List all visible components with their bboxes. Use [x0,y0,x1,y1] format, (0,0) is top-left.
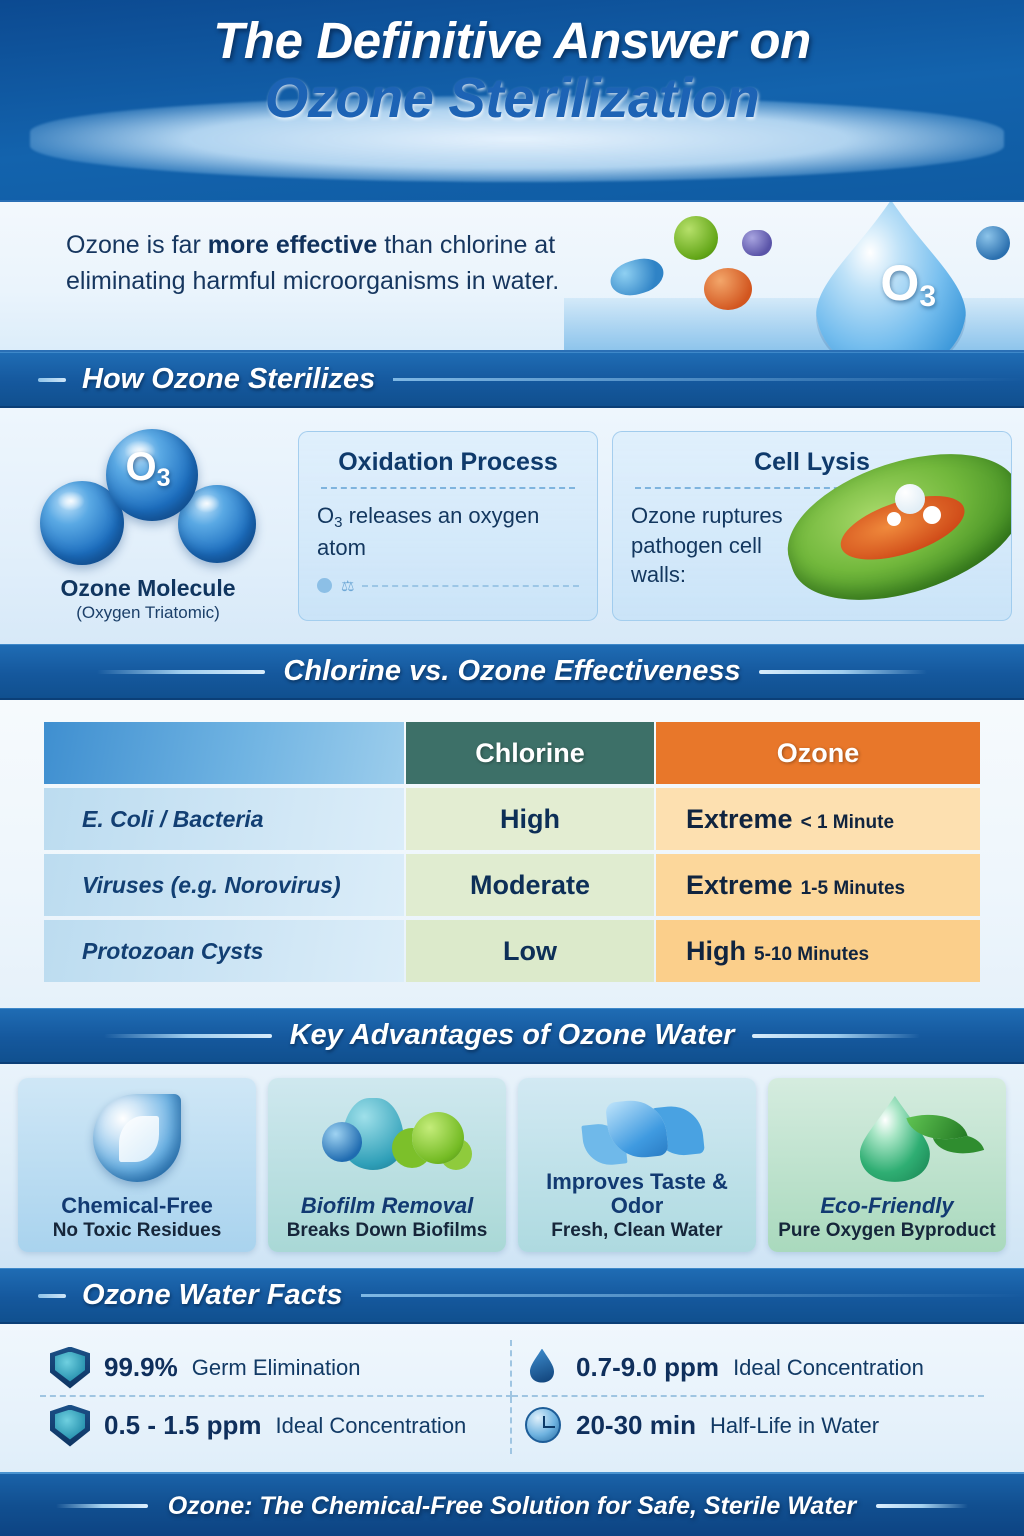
ozone-time: 1-5 Minutes [801,878,906,899]
shield-icon [50,1405,90,1447]
row-ozone-value: High5-10 Minutes [656,920,980,982]
advantages-rule-right [752,1034,920,1038]
how-ozone-content: O3 Ozone Molecule (Oxygen Triatomic) Oxi… [0,408,1024,644]
advantage-card-taste-odor: Improves Taste & Odor Fresh, Clean Water [518,1078,756,1252]
ozone-time: 5-10 Minutes [754,944,869,965]
advantage-card-chemical-free: Chemical-Free No Toxic Residues [18,1078,256,1252]
title-header: The Definitive Answer on Ozone Steriliza… [0,0,1024,200]
intro-text-bold: more effective [208,231,378,259]
title-line-2: Ozone Sterilization [0,69,1024,127]
bar-rule-left [38,378,66,382]
how-section-title: How Ozone Sterilizes [82,363,375,396]
shield-leaf-icon [24,1088,250,1192]
shield-shape-icon [93,1094,181,1182]
blue-bacterium-icon [606,253,667,301]
intro-text-pre: Ozone is far [66,231,208,259]
advantage-subtitle: Fresh, Clean Water [551,1220,722,1242]
facts-grid: 99.9% Germ Elimination 0.7-9.0 ppm Ideal… [0,1324,1024,1472]
oxidation-process-card: Oxidation Process O3 releases an oxygen … [298,431,598,621]
intro-section: Ozone is far more effective than chlorin… [0,200,1024,352]
fact-value: 0.7-9.0 ppm [576,1352,719,1383]
molecule-subtitle: (Oxygen Triatomic) [12,603,284,623]
advantages-section-title: Key Advantages of Ozone Water [290,1019,735,1052]
fact-value: 99.9% [104,1352,178,1383]
comparison-section-title: Chlorine vs. Ozone Effectiveness [283,655,740,688]
table-row: E. Coli / Bacteria High Extreme< 1 Minut… [44,788,980,850]
molecule-name: Ozone Molecule [12,575,284,602]
molecule-letter: O [125,445,156,489]
oxidation-body-pre: O [317,503,334,528]
shield-shape [50,1347,90,1389]
clock-icon [522,1405,562,1447]
droplet-icon [522,1347,562,1389]
intro-text: Ozone is far more effective than chlorin… [66,228,566,299]
fact-germ-elimination: 99.9% Germ Elimination [40,1340,512,1397]
cell-lysis-card-body: Ozone ruptures pathogen cell walls: [631,501,811,590]
ozone-time: < 1 Minute [801,812,894,833]
table-header-ozone: Ozone [656,722,980,784]
o3-subscript: 3 [919,280,936,313]
ice-cubes-icon [605,1097,669,1161]
fact-concentration-bottom: 0.5 - 1.5 ppm Ideal Concentration [40,1397,512,1454]
facts-rule-left [38,1294,66,1298]
droplet-shape [530,1349,554,1383]
fact-label: Half-Life in Water [710,1413,879,1439]
advantage-title: Biofilm Removal [301,1194,473,1218]
ice-water-icon [524,1086,750,1168]
cell-lysis-card: Cell Lysis Ozone ruptures pathogen cell … [612,431,1012,621]
shield-icon [50,1347,90,1389]
infographic-poster: The Definitive Answer on Ozone Steriliza… [0,0,1024,1536]
row-pathogen-name: Protozoan Cysts [44,920,404,982]
molecule-glyph-icon: ⚖ [341,577,354,595]
shield-shape [50,1405,90,1447]
footer-banner: Ozone: The Chemical-Free Solution for Sa… [0,1472,1024,1536]
comparison-rule-left [97,670,265,674]
green-droplet-icon [860,1096,930,1182]
title-line-1: The Definitive Answer on [0,14,1024,67]
oxidation-card-divider [321,487,575,489]
small-blue-virus-icon [976,226,1010,260]
clock-face [525,1407,561,1443]
footer-rule-left [56,1504,148,1508]
purple-bacterium-icon [742,230,772,256]
red-virus-icon [704,268,752,310]
virus-cluster-icon [412,1112,464,1164]
oxidation-body-post: releases an oxygen atom [317,503,539,560]
row-ozone-value: Extreme< 1 Minute [656,788,980,850]
row-pathogen-name: Viruses (e.g. Norovirus) [44,854,404,916]
fact-value: 20-30 min [576,1410,696,1441]
advantage-subtitle: Pure Oxygen Byproduct [778,1220,996,1242]
fact-value: 0.5 - 1.5 ppm [104,1410,262,1441]
comparison-table: Chlorine Ozone E. Coli / Bacteria High E… [42,718,982,986]
row-ozone-value: Extreme1-5 Minutes [656,854,980,916]
comparison-rule-right [759,670,927,674]
advantages-cards: Chemical-Free No Toxic Residues Biofilm … [0,1064,1024,1268]
oxidation-card-body: O3 releases an oxygen atom [317,501,579,563]
flask-virus-icon [274,1088,500,1192]
comparison-table-wrap: Chlorine Ozone E. Coli / Bacteria High E… [0,700,1024,1008]
table-header-chlorine: Chlorine [406,722,654,784]
fact-label: Germ Elimination [192,1355,361,1381]
fact-concentration-top: 0.7-9.0 ppm Ideal Concentration [512,1340,984,1397]
molecule-subscript: 3 [157,464,171,492]
ozone-molecule-overlay-icon [895,484,925,514]
fact-label: Ideal Concentration [733,1355,924,1381]
facts-section-title: Ozone Water Facts [82,1279,343,1312]
green-leaf-drop-icon [774,1088,1000,1192]
how-section-bar: How Ozone Sterilizes [0,352,1024,408]
advantages-section-bar: Key Advantages of Ozone Water [0,1008,1024,1064]
advantage-card-biofilm-removal: Biofilm Removal Breaks Down Biofilms [268,1078,506,1252]
advantage-card-eco-friendly: Eco-Friendly Pure Oxygen Byproduct [768,1078,1006,1252]
ozone-molecule-group: O3 Ozone Molecule (Oxygen Triatomic) [12,429,284,623]
molecule-diagram: O3 [32,429,264,567]
ozone-level: High [686,936,746,966]
connector-line [362,585,579,587]
table-header-blank [44,722,404,784]
oxidation-connector: ⚖ [317,577,579,595]
bar-rule-right [393,378,1024,381]
advantage-title: Improves Taste & Odor [524,1170,750,1218]
advantage-subtitle: No Toxic Residues [53,1220,222,1242]
fact-label: Ideal Concentration [276,1413,467,1439]
oxidation-card-title: Oxidation Process [317,448,579,477]
fact-half-life: 20-30 min Half-Life in Water [512,1397,984,1454]
advantages-rule-left [104,1034,272,1038]
footer-rule-right [876,1504,968,1508]
molecule-label: O3 [32,445,264,493]
table-row: Viruses (e.g. Norovirus) Moderate Extrem… [44,854,980,916]
footer-text: Ozone: The Chemical-Free Solution for Sa… [168,1492,857,1521]
advantage-title: Chemical-Free [61,1194,213,1218]
green-virus-icon [674,216,718,260]
facts-rule-right [361,1294,1024,1297]
ozone-level: Extreme [686,804,793,834]
row-pathogen-name: E. Coli / Bacteria [44,788,404,850]
advantage-title: Eco-Friendly [820,1194,953,1218]
intro-artwork: O3 [564,202,1024,352]
row-chlorine-value: Low [406,920,654,982]
row-chlorine-value: High [406,788,654,850]
flask-shape-icon [342,1098,404,1170]
advantage-subtitle: Breaks Down Biofilms [287,1220,488,1242]
o3-letter: O [880,255,919,311]
o3-drop-label: O3 [880,254,936,314]
ozone-level: Extreme [686,870,793,900]
table-header-row: Chlorine Ozone [44,722,980,784]
connector-dot-icon [317,578,332,593]
table-row: Protozoan Cysts Low High5-10 Minutes [44,920,980,982]
comparison-section-bar: Chlorine vs. Ozone Effectiveness [0,644,1024,700]
facts-section-bar: Ozone Water Facts [0,1268,1024,1324]
row-chlorine-value: Moderate [406,854,654,916]
